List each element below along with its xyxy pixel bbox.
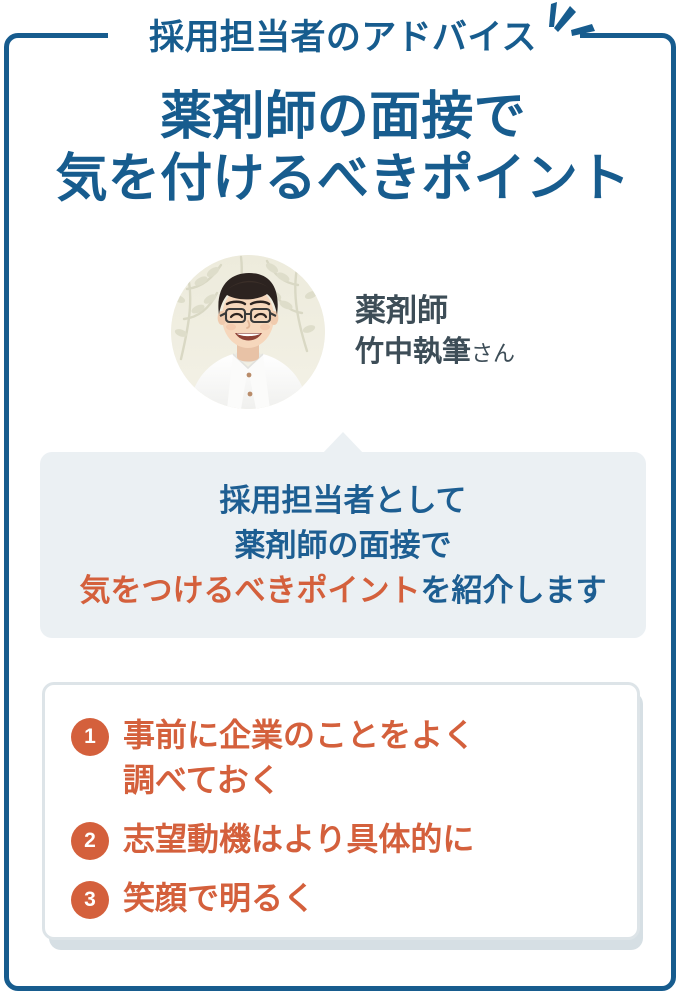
- page-title: 薬剤師の面接で 気を付けるべきポイント: [0, 86, 686, 210]
- list-item-label: 笑顔で明るく: [123, 876, 315, 921]
- bubble-line-1: 採用担当者として: [219, 478, 466, 523]
- sparkle-icon: [540, 0, 600, 46]
- profile-text: 薬剤師 竹中執筆さん: [355, 292, 515, 372]
- list-item: 3 笑顔で明るく: [71, 876, 611, 921]
- profile-name-text: 竹中執筆: [355, 336, 471, 368]
- profile-honorific: さん: [471, 341, 515, 366]
- avatar: [171, 255, 325, 409]
- profile-block: 薬剤師 竹中執筆さん: [0, 255, 686, 409]
- profile-name: 竹中執筆さん: [355, 334, 515, 372]
- profile-role: 薬剤師: [355, 292, 515, 330]
- bubble-line-3-rest: を紹介します: [421, 573, 607, 608]
- page-title-line-1: 薬剤師の面接で: [0, 86, 686, 148]
- bubble-line-3: 気をつけるべきポイントを紹介します: [80, 568, 607, 613]
- bubble-line-2: 薬剤師の面接で: [235, 523, 452, 568]
- list-item-number: 3: [71, 881, 109, 919]
- list-item-label: 志望動機はより具体的に: [123, 817, 474, 862]
- list-item-number: 2: [71, 822, 109, 860]
- avatar-photo: [171, 255, 325, 409]
- list-item-number: 1: [71, 718, 109, 756]
- speech-bubble: 採用担当者として 薬剤師の面接で 気をつけるべきポイントを紹介します: [40, 452, 646, 638]
- list-item: 2 志望動機はより具体的に: [71, 817, 611, 862]
- page-title-line-2: 気を付けるべきポイント: [0, 148, 686, 210]
- bubble-line-3-highlight: 気をつけるべきポイント: [80, 573, 421, 608]
- points-card: 1 事前に企業のことをよく調べておく 2 志望動機はより具体的に 3 笑顔で明る…: [42, 682, 640, 940]
- header-badge-label: 採用担当者のアドバイス: [149, 17, 537, 59]
- list-item-label: 事前に企業のことをよく調べておく: [123, 713, 475, 803]
- bubble-arrow: [322, 432, 364, 454]
- points-list: 1 事前に企業のことをよく調べておく 2 志望動機はより具体的に 3 笑顔で明る…: [71, 713, 611, 921]
- list-item: 1 事前に企業のことをよく調べておく: [71, 713, 611, 803]
